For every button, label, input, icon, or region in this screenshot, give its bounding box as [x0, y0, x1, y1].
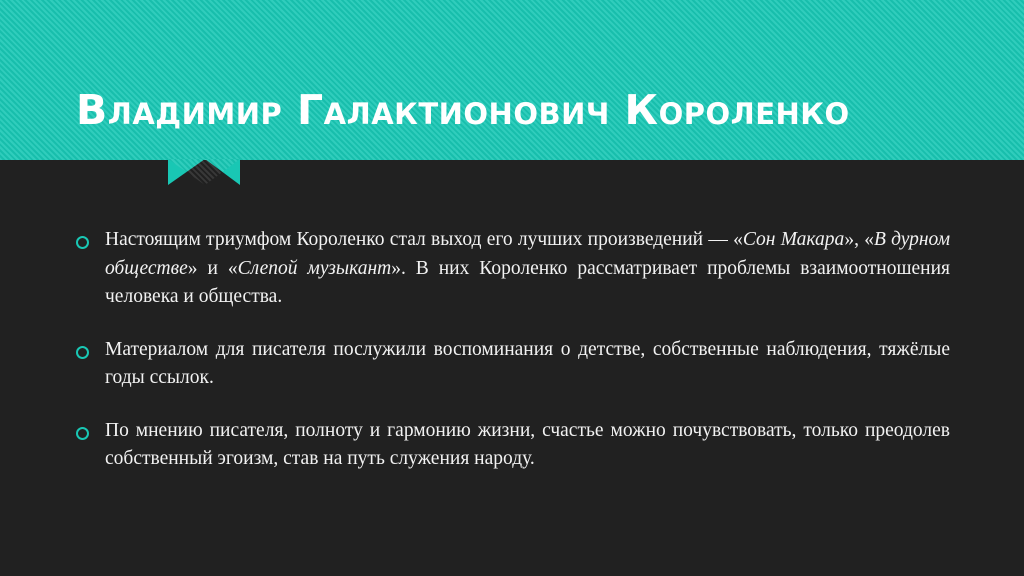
text-run: Материалом для писателя послужили воспом… [105, 339, 950, 389]
bullet-text-2: Материалом для писателя послужили воспом… [105, 339, 950, 389]
slide-body-bullet-list: Настоящим триумфом Короленко стал выход … [70, 226, 950, 474]
text-run: Настоящим триумфом Короленко стал выход … [105, 229, 743, 250]
hollow-circle-bullet-icon [76, 236, 89, 249]
slide-title: Владимир Галактионович Короленко [76, 87, 976, 134]
bullet-item-3: По мнению писателя, полноту и гармонию ж… [70, 417, 950, 474]
hollow-circle-bullet-icon [76, 427, 89, 440]
text-run: » и « [188, 258, 238, 279]
text-run: », « [844, 229, 874, 250]
bullet-item-2: Материалом для писателя послужили воспом… [70, 336, 950, 393]
text-run: Сон Макара [743, 229, 844, 250]
bullet-text-3: По мнению писателя, полноту и гармонию ж… [105, 420, 950, 470]
text-run: Слепой музыкант [238, 258, 392, 279]
hollow-circle-bullet-icon [76, 346, 89, 359]
presentation-slide: Владимир Галактионович Короленко Настоящ… [0, 0, 1024, 576]
slide-header-banner [0, 0, 1024, 160]
bullet-item-1: Настоящим триумфом Короленко стал выход … [70, 226, 950, 312]
bullet-text-1: Настоящим триумфом Короленко стал выход … [105, 229, 950, 307]
text-run: По мнению писателя, полноту и гармонию ж… [105, 420, 950, 470]
